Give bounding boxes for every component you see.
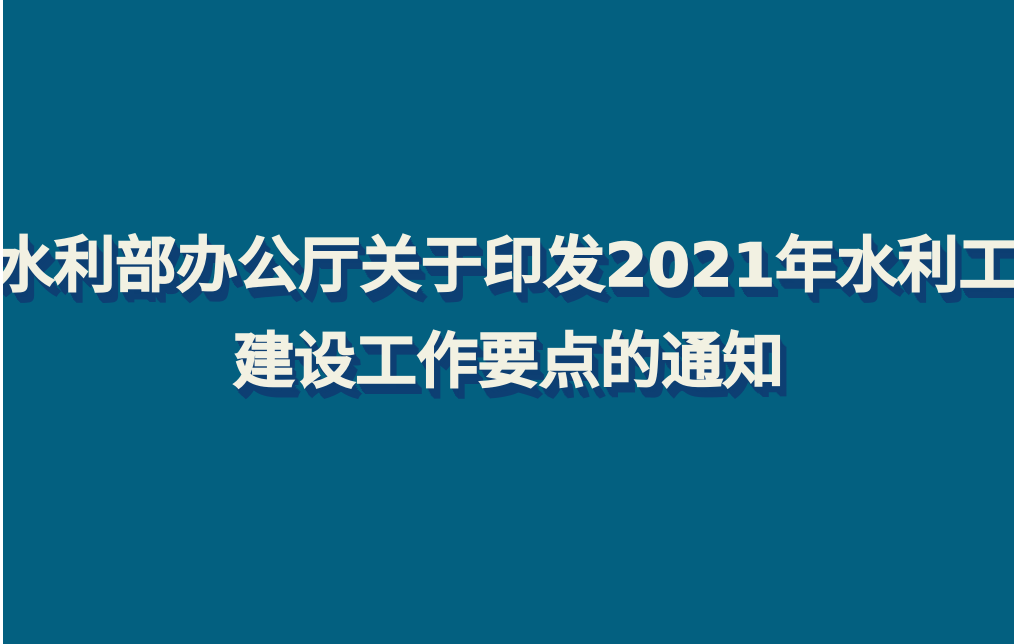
title-banner: 水利部办公厅关于印发2021年水利工程 建设工作要点的通知 xyxy=(0,0,1017,644)
page-title: 水利部办公厅关于印发2021年水利工程 建设工作要点的通知 xyxy=(3,236,1014,392)
title-line-1: 水利部办公厅关于印发2021年水利工程 xyxy=(0,236,1017,296)
title-line-2: 建设工作要点的通知 xyxy=(0,332,1017,392)
